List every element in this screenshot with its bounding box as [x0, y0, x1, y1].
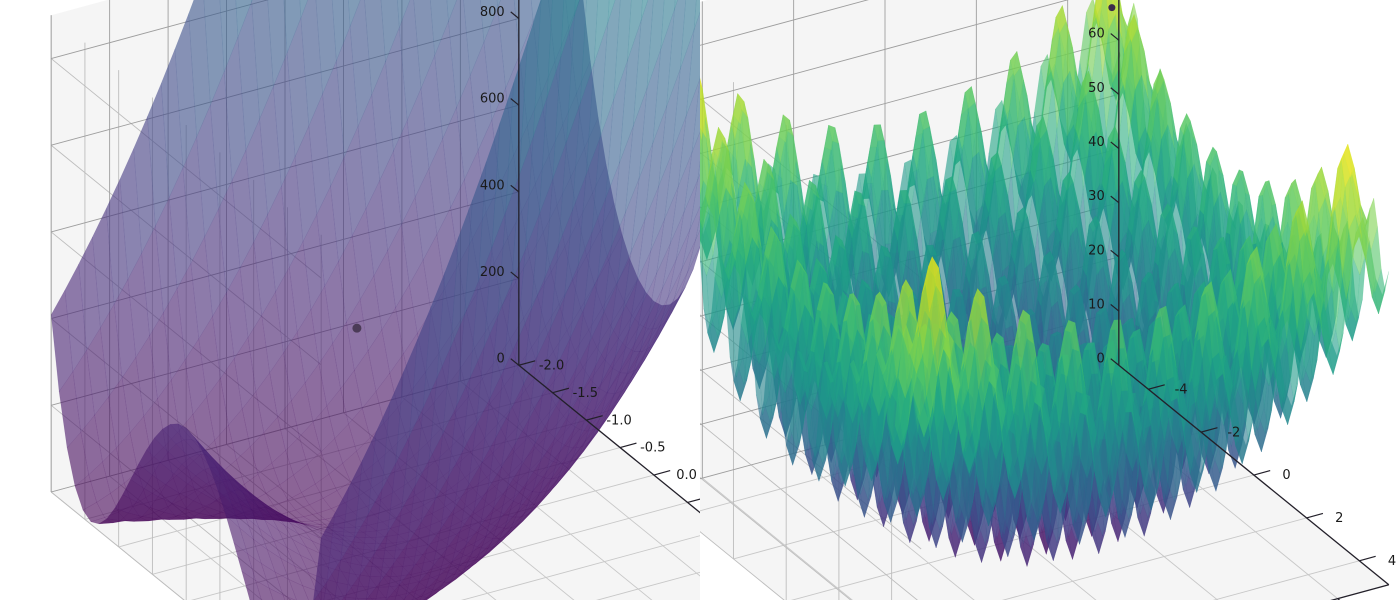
rosenbrock-xtick-label: -2.0: [539, 358, 564, 373]
rosenbrock-ztick-label: 600: [480, 92, 505, 107]
rastrigin-xtick-label: 0: [1282, 468, 1290, 483]
svg-text:-0.5: -0.5: [640, 441, 665, 456]
rastrigin-ztick-label: 20: [1088, 243, 1105, 258]
rosenbrock-xtick-label: -1.5: [573, 386, 598, 401]
svg-text:0: 0: [496, 352, 504, 367]
rastrigin-axes3d: -4-2024-4-202401020304050607080: [700, 0, 1400, 600]
rastrigin-xtick-label: -4: [1175, 382, 1188, 397]
rastrigin-current-point-marker: [1108, 4, 1115, 11]
rosenbrock-ztick-label: 200: [480, 265, 505, 280]
rosenbrock-xtick-label: 0.0: [676, 468, 697, 483]
rosenbrock-axes3d: -2.0-1.5-1.0-0.50.00.51.01.52.0-2.0-1.5-…: [0, 0, 700, 600]
rastrigin-xtick-label: -2: [1227, 425, 1240, 440]
rosenbrock-xtick-label: -1.0: [606, 413, 631, 428]
rastrigin-ztick-label: 50: [1088, 81, 1105, 96]
svg-text:400: 400: [480, 178, 505, 193]
rosenbrock-ztick-label: 800: [480, 5, 505, 20]
rosenbrock-ztick-label: 0: [496, 352, 504, 367]
matplotlib-figure: GD: Rosenbrock (3D) -2.0-1.5-1.0-0.50.00…: [0, 0, 1400, 600]
svg-text:0.0: 0.0: [676, 468, 697, 483]
svg-text:200: 200: [480, 265, 505, 280]
rastrigin-ztick-label: 60: [1088, 27, 1105, 42]
svg-text:-1.0: -1.0: [606, 413, 631, 428]
svg-text:-1.5: -1.5: [573, 386, 598, 401]
rastrigin-xtick-label: 4: [1388, 554, 1396, 569]
rosenbrock-ztick-label: 400: [480, 178, 505, 193]
rastrigin-ztick-label: 30: [1088, 189, 1105, 204]
rastrigin-ztick-label: 10: [1088, 297, 1105, 312]
svg-text:-2.0: -2.0: [539, 358, 564, 373]
svg-text:800: 800: [480, 5, 505, 20]
subplot-rosenbrock: GD: Rosenbrock (3D) -2.0-1.5-1.0-0.50.00…: [0, 0, 700, 600]
rastrigin-ztick-label: 40: [1088, 135, 1105, 150]
subplot-rastrigin: GD: Rastrigin (3D) -4-2024-4-20240102030…: [700, 0, 1400, 600]
rosenbrock-xtick-label: -0.5: [640, 441, 665, 456]
svg-text:600: 600: [480, 92, 505, 107]
rosenbrock-current-point-marker: [352, 324, 361, 333]
rastrigin-ztick-label: 0: [1096, 352, 1104, 367]
rastrigin-xtick-label: 2: [1335, 511, 1343, 526]
